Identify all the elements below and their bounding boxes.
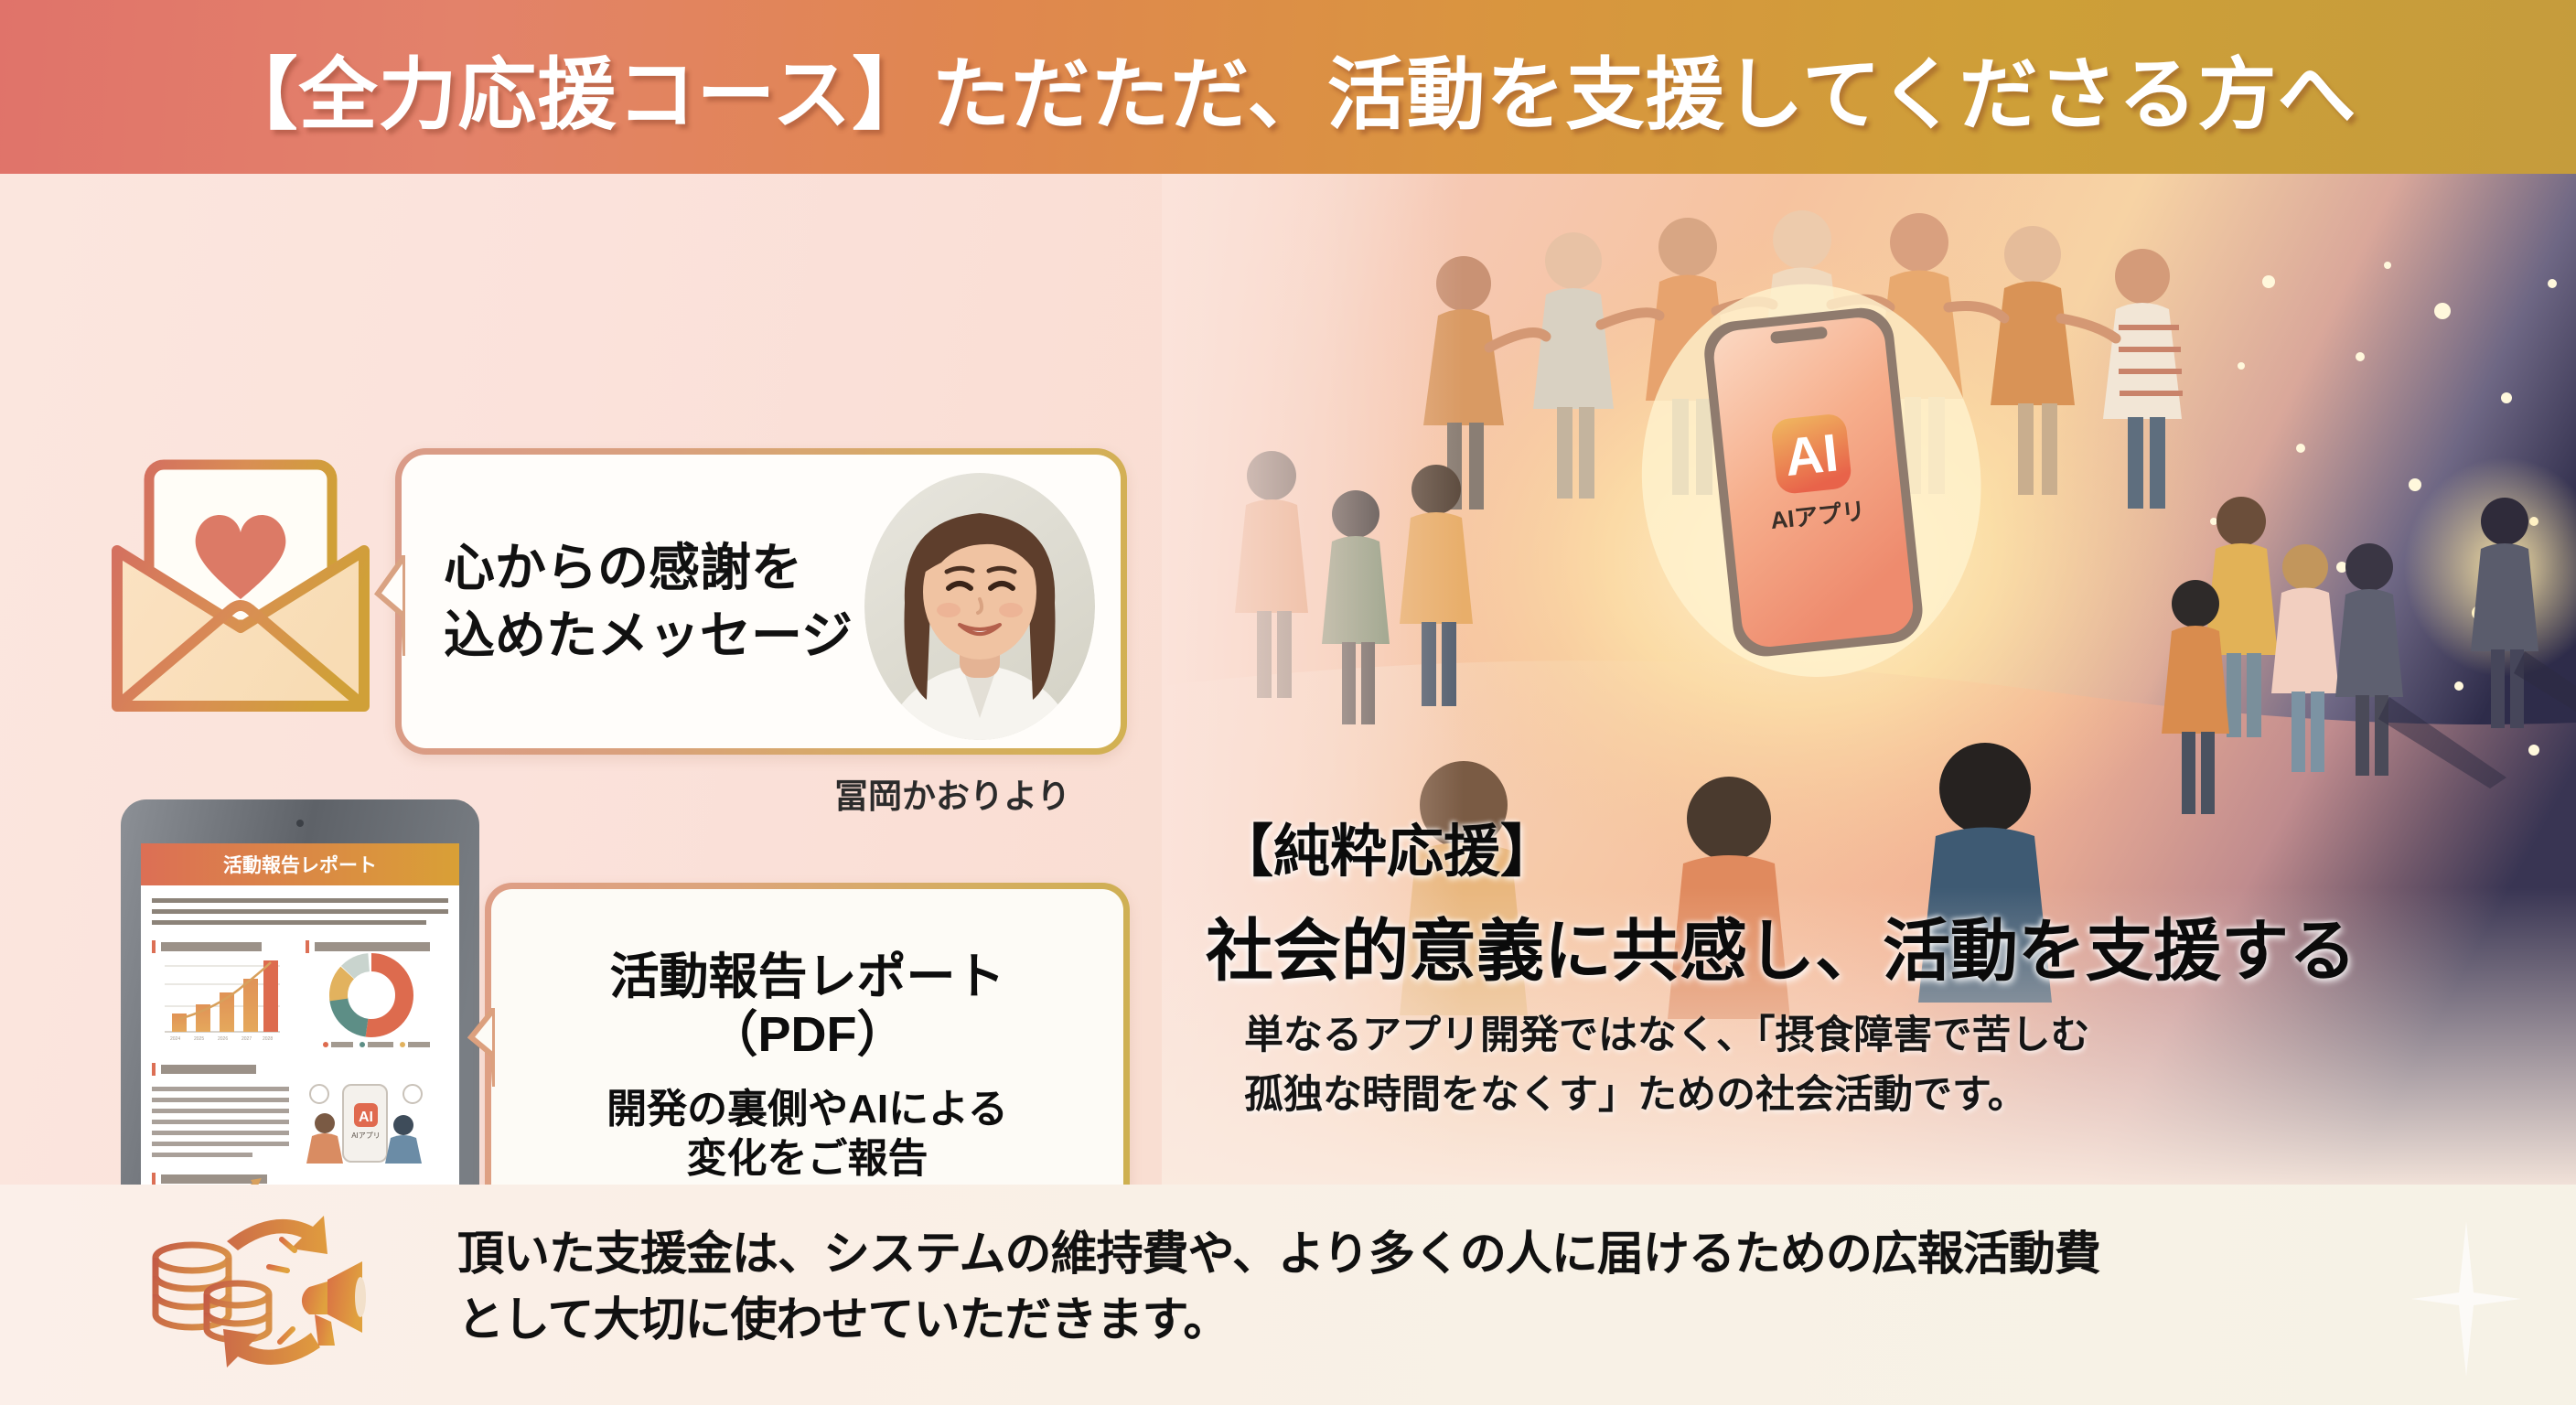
coins-megaphone-recycle-icon bbox=[117, 1210, 392, 1384]
pure-support-headline: 社会的意義に共感し、活動を支援する bbox=[1206, 896, 2356, 994]
footer-banner: 頂いた支援金は、システムの維持費や、より多くの人に届けるための広報活動費 として… bbox=[0, 1185, 2576, 1405]
report-reward-bubble: 活動報告レポート （PDF） 開発の裏側やAIによる 変化をご報告 bbox=[485, 883, 1130, 1185]
footer-usage-text: 頂いた支援金は、システムの維持費や、より多くの人に届けるための広報活動費 として… bbox=[457, 1221, 2100, 1354]
pure-support-tag: 【純粋応援】 bbox=[1217, 805, 1557, 887]
avatar bbox=[864, 473, 1095, 740]
svg-text:2026: 2026 bbox=[218, 1036, 228, 1042]
message-attribution: 冨岡かおりより bbox=[834, 768, 1070, 818]
svg-text:AI: AI bbox=[359, 1110, 373, 1125]
svg-text:2025: 2025 bbox=[194, 1036, 204, 1042]
thank-you-message-text: 心からの感謝を 込めたメッセージ bbox=[402, 534, 853, 670]
header-banner: 【全力応援コース】ただただ、活動を支援してくださる方へ bbox=[0, 0, 2576, 174]
svg-text:AIアプリ: AIアプリ bbox=[351, 1132, 381, 1140]
svg-text:2024: 2024 bbox=[170, 1036, 180, 1042]
phone-app-logo-text: AI bbox=[1782, 423, 1841, 488]
main-content-area: AI AIアプリ bbox=[0, 174, 2576, 1185]
envelope-heart-icon bbox=[108, 448, 373, 723]
sparkle-icon bbox=[2411, 1221, 2521, 1377]
thank-you-message-bubble: 心からの感謝を 込めたメッセージ bbox=[395, 448, 1127, 755]
bubble-tail-icon bbox=[467, 1008, 495, 1087]
report-subtitle: 開発の裏側やAIによる 変化をご報告 bbox=[606, 1085, 1008, 1183]
svg-text:2028: 2028 bbox=[263, 1036, 273, 1042]
tablet-device-icon: 活動報告レポート bbox=[117, 796, 483, 1185]
bubble-tail-icon bbox=[374, 555, 405, 656]
svg-text:2027: 2027 bbox=[241, 1036, 252, 1042]
tablet-report-title: 活動報告レポート bbox=[223, 854, 377, 876]
pure-support-body-1: 単なるアプリ開発ではなく、「摂食障害で苦しむ 孤独な時間をなくす」ための社会活動… bbox=[1244, 1006, 2090, 1124]
report-title: 活動報告レポート （PDF） bbox=[610, 949, 1005, 1065]
page-title: 【全力応援コース】ただただ、活動を支援してくださる方へ bbox=[220, 30, 2357, 145]
